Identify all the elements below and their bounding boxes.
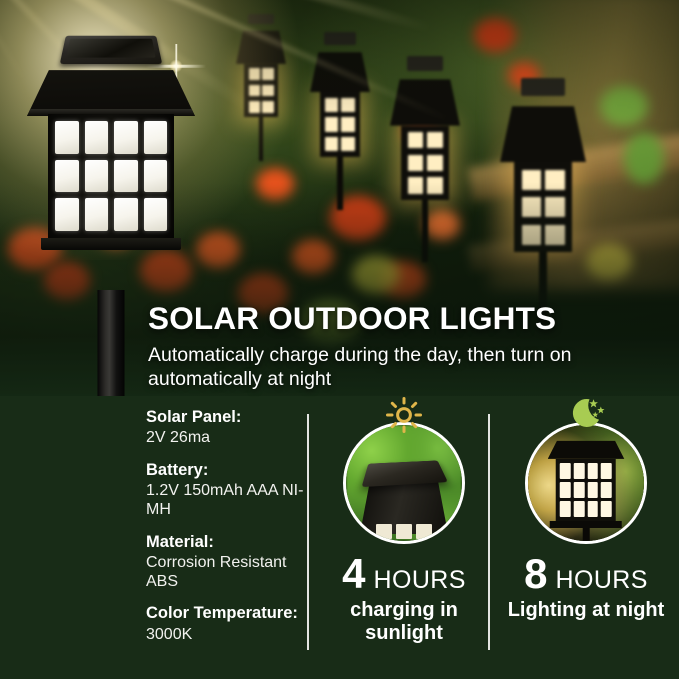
- lit-lantern: [548, 439, 625, 544]
- lamp-body: [556, 459, 616, 521]
- lamp-pane: [560, 482, 571, 498]
- product-marketing-image: SOLAR OUTDOOR LIGHTS Automatically charg…: [0, 0, 679, 679]
- hours-unit: HOURS: [556, 566, 648, 595]
- lamp-base: [550, 521, 622, 528]
- lamp-pane: [601, 501, 612, 517]
- lighting-hours-row: 8 HOURS: [500, 553, 672, 595]
- flower-blob: [624, 132, 664, 184]
- lamp-pane: [144, 198, 168, 231]
- headline-block: SOLAR OUTDOOR LIGHTS Automatically charg…: [148, 302, 668, 392]
- lamp-pane: [408, 155, 424, 172]
- spec-item-material: Material: Corrosion Resistant ABS: [146, 533, 306, 592]
- photo-circle: [525, 422, 647, 544]
- spec-item-battery: Battery: 1.2V 150mAh AAA NI-MH: [146, 461, 306, 520]
- lamp-pane: [427, 132, 443, 149]
- lamp-pane: [587, 463, 598, 479]
- spec-panel: Solar Panel: 2V 26ma Battery: 1.2V 150mA…: [0, 396, 679, 679]
- lamp-pane: [408, 132, 424, 149]
- solar-panel-closeup-photo: [343, 422, 465, 544]
- lamp-roof: [27, 60, 195, 116]
- lamp-pane: [574, 501, 585, 517]
- lamp-pane: [560, 463, 571, 479]
- charging-hours-row: 4 HOURS: [318, 553, 490, 595]
- lamp-pane: [574, 463, 585, 479]
- lamp-pane: [601, 463, 612, 479]
- page-title: SOLAR OUTDOOR LIGHTS: [148, 302, 668, 335]
- lamp-pane: [587, 501, 598, 517]
- lamp-pane: [560, 501, 571, 517]
- lamp-pane: [55, 121, 79, 154]
- lamp-pane: [55, 160, 79, 193]
- column-divider: [307, 414, 309, 650]
- lamp-pane: [396, 524, 412, 539]
- lamp-pane: [85, 121, 109, 154]
- page-subtitle: Automatically charge during the day, the…: [148, 344, 618, 392]
- lamp-body: [48, 114, 174, 238]
- feature-lighting: 8 HOURS Lighting at night: [500, 396, 672, 622]
- lamp-roof: [548, 439, 625, 459]
- sun-icon: [318, 396, 490, 434]
- lamp-post: [583, 528, 590, 544]
- lamp-base: [41, 238, 181, 250]
- lamp-pane: [416, 524, 432, 539]
- lamp-pane: [587, 482, 598, 498]
- spec-value: 2V 26ma: [146, 428, 306, 447]
- moon-stars-icon: [500, 396, 672, 434]
- spec-label: Material:: [146, 533, 306, 552]
- photo-circle: [343, 422, 465, 544]
- lamp-window-strip: [376, 524, 432, 539]
- lamp-pane: [85, 160, 109, 193]
- spec-item-color-temperature: Color Temperature: 3000K: [146, 604, 306, 644]
- lamp-pane: [601, 482, 612, 498]
- feature-charging: 4 HOURS charging in sunlight: [318, 396, 490, 645]
- lamp-pane: [574, 482, 585, 498]
- solar-panel-cap: [60, 36, 162, 64]
- spec-label: Battery:: [146, 461, 306, 480]
- spec-label: Color Temperature:: [146, 604, 306, 623]
- lamp-pane: [85, 198, 109, 231]
- lamp-pane: [114, 121, 138, 154]
- lamp-pane: [325, 137, 339, 151]
- hero-solar-lamp: [26, 32, 196, 250]
- feature-caption: charging in sunlight: [318, 599, 490, 645]
- spec-item-solar-panel: Solar Panel: 2V 26ma: [146, 408, 306, 448]
- lamp-pane: [341, 137, 355, 151]
- hours-unit: HOURS: [374, 566, 466, 595]
- hours-number: 4: [342, 553, 365, 595]
- lamp-pane: [376, 524, 392, 539]
- lamp-pane: [427, 155, 443, 172]
- spec-value: Corrosion Resistant ABS: [146, 553, 306, 591]
- lamp-pane: [114, 198, 138, 231]
- lamp-pane: [55, 198, 79, 231]
- spec-value: 1.2V 150mAh AAA NI-MH: [146, 481, 306, 519]
- lit-lantern-night-photo: [525, 422, 647, 544]
- lamp-pane: [114, 160, 138, 193]
- specifications-list: Solar Panel: 2V 26ma Battery: 1.2V 150mA…: [146, 408, 306, 657]
- feature-caption: Lighting at night: [500, 599, 672, 622]
- lamp-pane: [144, 160, 168, 193]
- hours-number: 8: [524, 553, 547, 595]
- spec-value: 3000K: [146, 625, 306, 644]
- spec-label: Solar Panel:: [146, 408, 306, 427]
- lamp-pane: [144, 121, 168, 154]
